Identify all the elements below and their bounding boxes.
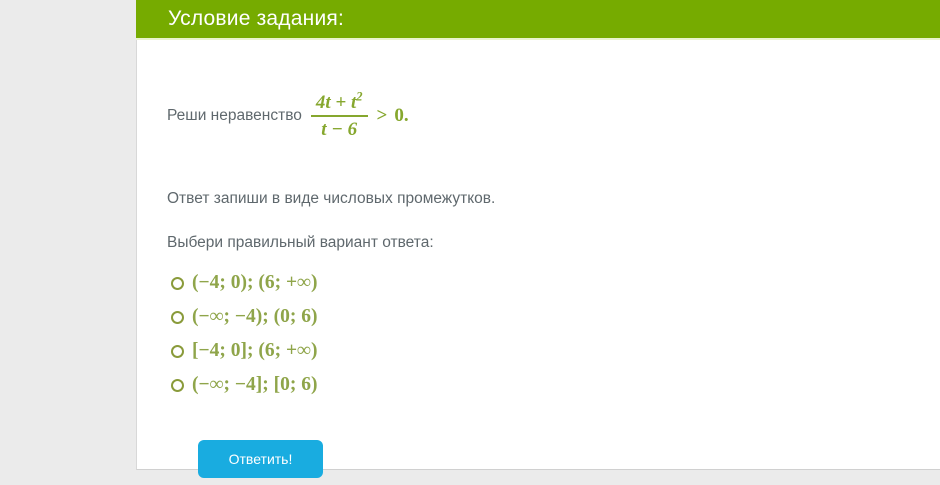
radio-unchecked-icon[interactable]	[171, 277, 184, 290]
relation-right-side: 0	[394, 105, 404, 127]
radio-unchecked-icon[interactable]	[171, 311, 184, 324]
answer-option-2[interactable]: (−∞; −4); (0; 6)	[171, 300, 317, 334]
task-header-bar: Условие задания:	[136, 0, 940, 40]
fraction-numerator-base: 4t + t	[316, 92, 356, 113]
question-prompt-text: Реши неравенство	[167, 108, 302, 124]
task-card-content: Реши неравенство 4t + t2 t − 6 > 0 . Отв…	[167, 40, 920, 469]
relation-operator: >	[377, 105, 388, 127]
answer-option-4-label[interactable]: (−∞; −4]; [0; 6)	[192, 374, 317, 396]
question-line: Реши неравенство 4t + t2 t − 6 > 0 .	[167, 92, 409, 140]
answer-option-4[interactable]: (−∞; −4]; [0; 6)	[171, 368, 317, 402]
fraction: 4t + t2 t − 6	[311, 92, 368, 140]
page-title: Условие задания:	[168, 7, 344, 31]
math-formula: 4t + t2 t − 6 > 0 .	[311, 92, 409, 140]
fraction-denominator: t − 6	[316, 117, 362, 140]
formula-trailing-punctuation: .	[404, 105, 409, 127]
submit-answer-button[interactable]: Ответить!	[198, 440, 323, 478]
radio-unchecked-icon[interactable]	[171, 379, 184, 392]
fraction-numerator-exponent: 2	[356, 90, 362, 104]
answer-option-3-label[interactable]: [−4; 0]; (6; +∞)	[192, 340, 317, 362]
instruction-choose-option: Выбери правильный вариант ответа:	[167, 234, 434, 252]
answer-option-3[interactable]: [−4; 0]; (6; +∞)	[171, 334, 317, 368]
fraction-numerator: 4t + t2	[311, 92, 368, 115]
instruction-answer-format: Ответ запиши в виде числовых промежутков…	[167, 190, 495, 208]
radio-unchecked-icon[interactable]	[171, 345, 184, 358]
answer-option-2-label[interactable]: (−∞; −4); (0; 6)	[192, 306, 317, 328]
answer-option-1-label[interactable]: (−4; 0); (6; +∞)	[192, 272, 317, 294]
answer-option-1[interactable]: (−4; 0); (6; +∞)	[171, 266, 317, 300]
answer-options-group: (−4; 0); (6; +∞) (−∞; −4); (0; 6) [−4; 0…	[171, 266, 317, 402]
task-card: Реши неравенство 4t + t2 t − 6 > 0 . Отв…	[136, 40, 940, 470]
task-page: Условие задания: Реши неравенство 4t + t…	[0, 0, 940, 485]
